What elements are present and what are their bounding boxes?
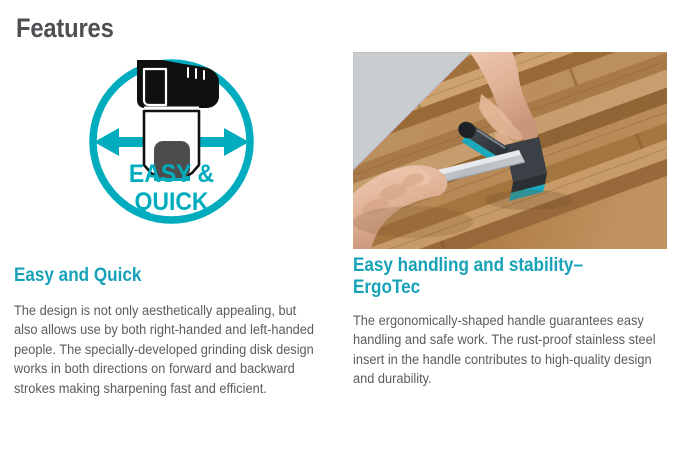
arrow-right-icon: [198, 128, 249, 156]
feature-body-easy-handling: The ergonomically-shaped handle guarante…: [353, 311, 666, 389]
feature-column-easy-handling: Easy handling and stability–ErgoTec The …: [353, 52, 679, 389]
page-title: Features: [16, 14, 114, 44]
features-section: Features: [0, 0, 693, 460]
arrow-left-icon: [94, 128, 145, 156]
badge-text-line1: EASY &: [129, 160, 214, 188]
feature-body-easy-and-quick: The design is not only aesthetically app…: [14, 301, 316, 399]
feature-heading-line2: ErgoTec: [353, 277, 420, 298]
feature-column-easy-and-quick: EASY & QUICK Easy and Quick The design i…: [14, 52, 334, 398]
feature-heading-line1: Easy handling and stability–: [353, 255, 583, 276]
badge-text-line2: QUICK: [134, 188, 209, 216]
easy-quick-badge: EASY & QUICK: [88, 58, 255, 225]
feature-media-badge: EASY & QUICK: [14, 52, 334, 257]
feature-heading-easy-handling: Easy handling and stability–ErgoTec: [353, 255, 679, 299]
knife-sharpening-photo: [353, 52, 667, 249]
feature-heading-easy-and-quick: Easy and Quick: [14, 265, 334, 287]
